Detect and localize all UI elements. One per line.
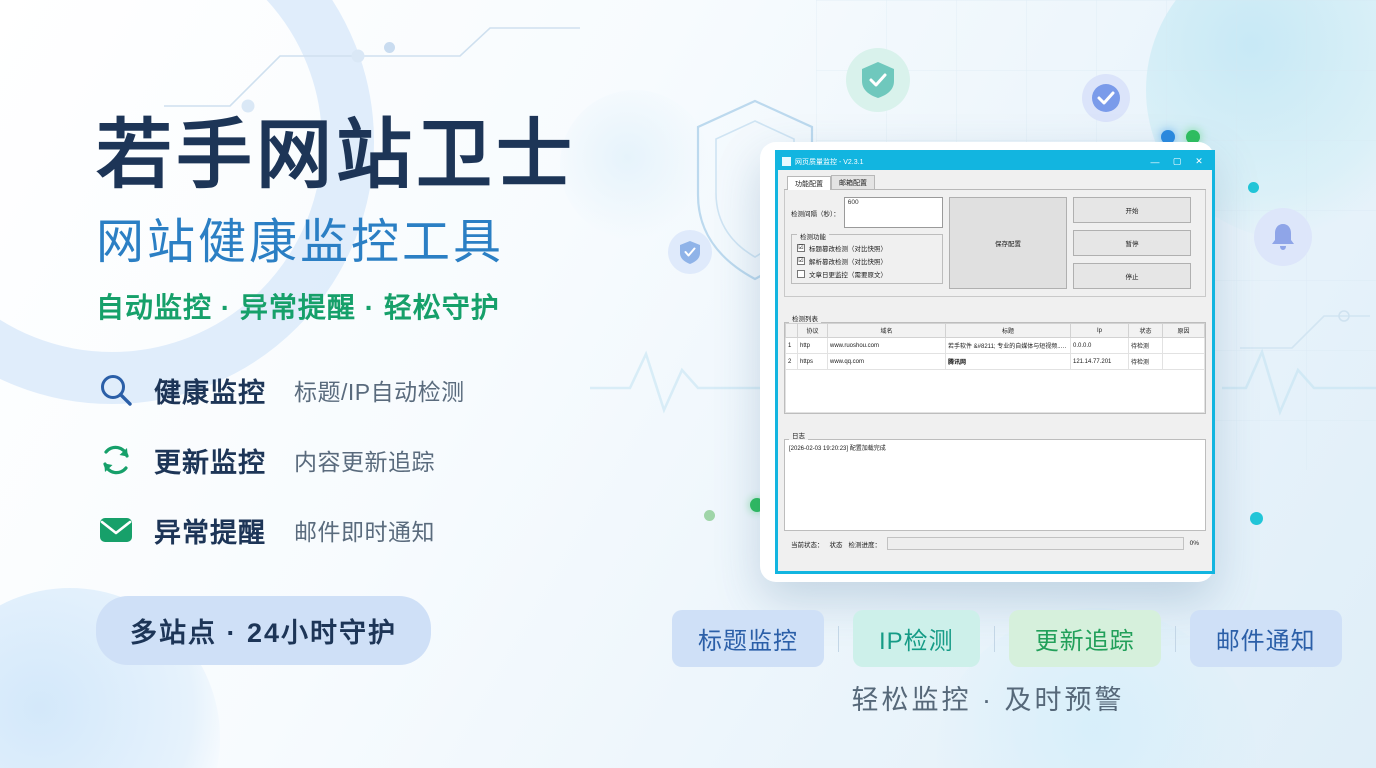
page-subtitle: 网站健康监控工具 [96, 218, 656, 268]
bell-badge [1254, 208, 1312, 266]
search-icon [96, 370, 136, 410]
feature-item-alert: 异常提醒 邮件即时通知 [96, 510, 656, 550]
interval-input[interactable]: 600 [844, 197, 943, 228]
maximize-button[interactable]: ▢ [1166, 153, 1188, 170]
interval-row: 检测间隔（秒）： 600 [791, 197, 943, 228]
status-dot-green-3 [704, 510, 715, 521]
feature-list: 健康监控 标题/IP自动检测 更新监控 内容更新追踪 [96, 370, 656, 550]
tag-separator [838, 626, 839, 652]
close-button[interactable]: ✕ [1188, 153, 1210, 170]
checkbox-box[interactable]: ☑ [797, 257, 805, 265]
log-section: 日志 [2026-02-03 19:20:23] 配置加载完成 [784, 421, 1206, 531]
hero-badge: 多站点 · 24小时守护 [96, 596, 431, 665]
progress-bar [887, 537, 1184, 550]
page-title: 若手网站卫士 [96, 118, 656, 194]
decor-dot [384, 42, 395, 53]
log-line: [2026-02-03 19:20:23] 配置加载完成 [789, 443, 1201, 452]
checkbox-title-tamper[interactable]: ☑ 标题篡改检测（对比快照） [797, 243, 937, 253]
table-row[interactable]: 1 http www.ruoshou.com 若手软件 &#8211; 专业的自… [786, 338, 1205, 354]
small-shield-badge [668, 230, 712, 274]
cell-domain: www.qq.com [828, 354, 946, 370]
feature-desc: 内容更新追踪 [294, 443, 435, 477]
stop-button[interactable]: 停止 [1073, 263, 1191, 289]
circuit-lines-right-icon [1240, 270, 1370, 360]
window-controls: — ▢ ✕ [1144, 153, 1210, 170]
detect-group-title: 检测功能 [797, 231, 829, 241]
checkbox-box[interactable] [797, 270, 805, 278]
col-title: 标题 [946, 324, 1071, 338]
start-button[interactable]: 开始 [1073, 197, 1191, 223]
checkbox-label: 标题篡改检测（对比快照） [809, 243, 887, 253]
cell-protocol: https [798, 354, 828, 370]
mail-icon [96, 510, 136, 550]
shield-icon [679, 240, 701, 265]
cell-status: 待检测 [1129, 338, 1163, 354]
cell-status: 待检测 [1129, 354, 1163, 370]
check-circle-icon [1091, 83, 1121, 113]
config-column: 检测间隔（秒）： 600 检测功能 ☑ 标题篡改检测（对比快照） ☑ 解析篡改检… [791, 197, 943, 289]
tag-separator [1175, 626, 1176, 652]
cell-domain: www.ruoshou.com [828, 338, 946, 354]
cell-reason [1163, 338, 1205, 354]
app-logo-icon [782, 157, 791, 166]
shield-check-icon [861, 61, 895, 99]
footer-caption: 轻松监控 · 及时预警 [672, 678, 1304, 717]
feature-item-health: 健康监控 标题/IP自动检测 [96, 370, 656, 410]
cell-ip: 0.0.0.0 [1071, 338, 1129, 354]
tag-title-monitor[interactable]: 标题监控 [672, 610, 824, 667]
shield-check-badge [846, 48, 910, 112]
cell-protocol: http [798, 338, 828, 354]
config-panel: 检测间隔（秒）： 600 检测功能 ☑ 标题篡改检测（对比快照） ☑ 解析篡改检… [784, 190, 1206, 297]
minimize-button[interactable]: — [1144, 153, 1166, 170]
tag-separator [994, 626, 995, 652]
detect-function-group: 检测功能 ☑ 标题篡改检测（对比快照） ☑ 解析篡改检测（对比快照） 文章日更监… [791, 234, 943, 284]
control-buttons: 开始 暂停 停止 [1073, 197, 1191, 289]
tab-function-config[interactable]: 功能配置 [787, 176, 831, 190]
progress-percent: 0% [1190, 540, 1199, 547]
window-title: 网页质量监控 - V2.3.1 [795, 157, 863, 167]
detection-table: 协议 域名 标题 Ip 状态 原因 1 http [785, 323, 1205, 370]
status-label: 当前状态： [791, 539, 824, 549]
cell-reason [1163, 354, 1205, 370]
status-dot-cyan-2 [1250, 512, 1263, 525]
table-row[interactable]: 2 https www.qq.com 腾讯网 121.14.77.201 待检测 [786, 354, 1205, 370]
checkbox-box[interactable]: ☑ [797, 244, 805, 252]
status-dot-cyan [1248, 182, 1259, 193]
status-bar: 当前状态： 状态 检测进度： 0% [784, 531, 1206, 550]
status-value: 状态 [830, 539, 843, 549]
pulse-wave-right-icon [1222, 330, 1376, 420]
feature-desc: 邮件即时通知 [294, 513, 435, 547]
feature-item-update: 更新监控 内容更新追踪 [96, 440, 656, 480]
tab-bar: 功能配置 邮箱配置 [784, 175, 1206, 190]
feature-name: 更新监控 [154, 441, 266, 480]
pause-button[interactable]: 暂停 [1073, 230, 1191, 256]
tag-mail-notify[interactable]: 邮件通知 [1190, 610, 1342, 667]
detection-list-label: 检测列表 [789, 313, 821, 323]
log-label: 日志 [789, 430, 808, 440]
app-window: 网页质量监控 - V2.3.1 — ▢ ✕ 功能配置 邮箱配置 检测间隔（秒）：… [775, 150, 1215, 574]
window-body: 功能配置 邮箱配置 检测间隔（秒）： 600 检测功能 ☑ 标题篡改检测（对比快… [778, 170, 1212, 550]
log-output[interactable]: [2026-02-03 19:20:23] 配置加载完成 [784, 439, 1206, 531]
tab-mail-config[interactable]: 邮箱配置 [831, 175, 875, 189]
checkbox-label: 解析篡改检测（对比快照） [809, 256, 887, 266]
detection-list-section: 检测列表 协议 域名 标题 I [784, 304, 1206, 414]
feature-name: 异常提醒 [154, 511, 266, 550]
cell-ip: 121.14.77.201 [1071, 354, 1129, 370]
check-circle-badge [1082, 74, 1130, 122]
save-config-button[interactable]: 保存配置 [949, 197, 1067, 289]
cell-title: 腾讯网 [946, 354, 1071, 370]
cell-index: 2 [786, 354, 798, 370]
feature-desc: 标题/IP自动检测 [294, 373, 465, 407]
detection-table-box: 协议 域名 标题 Ip 状态 原因 1 http [784, 322, 1206, 414]
tag-update-track[interactable]: 更新追踪 [1009, 610, 1161, 667]
cell-index: 1 [786, 338, 798, 354]
window-titlebar[interactable]: 网页质量监控 - V2.3.1 — ▢ ✕ [778, 153, 1212, 170]
tag-ip-detect[interactable]: IP检测 [853, 610, 980, 667]
table-empty-area [785, 370, 1205, 413]
col-ip: Ip [1071, 324, 1129, 338]
checkbox-daily-update[interactable]: 文章日更监控（需要原文） [797, 269, 937, 279]
page-tagline: 自动监控 · 异常提醒 · 轻松守护 [96, 286, 656, 326]
col-status: 状态 [1129, 324, 1163, 338]
table-header-row: 协议 域名 标题 Ip 状态 原因 [786, 324, 1205, 338]
bell-icon [1269, 222, 1297, 252]
checkbox-label: 文章日更监控（需要原文） [809, 269, 887, 279]
checkbox-dns-tamper[interactable]: ☑ 解析篡改检测（对比快照） [797, 256, 937, 266]
hero-section: 若手网站卫士 网站健康监控工具 自动监控 · 异常提醒 · 轻松守护 健康监控 … [96, 118, 656, 665]
tag-row: 标题监控 IP检测 更新追踪 邮件通知 [672, 610, 1342, 667]
cell-title: 若手软件 &#8211; 专业的自媒体与短视频...8.8.8.8 [946, 338, 1071, 354]
progress-label: 检测进度： [849, 539, 882, 549]
col-index [786, 324, 798, 338]
col-protocol: 协议 [798, 324, 828, 338]
interval-label: 检测间隔（秒）： [791, 208, 840, 218]
col-domain: 域名 [828, 324, 946, 338]
feature-name: 健康监控 [154, 371, 266, 410]
poster-canvas: 若手网站卫士 网站健康监控工具 自动监控 · 异常提醒 · 轻松守护 健康监控 … [0, 0, 1376, 768]
col-reason: 原因 [1163, 324, 1205, 338]
refresh-icon [96, 440, 136, 480]
